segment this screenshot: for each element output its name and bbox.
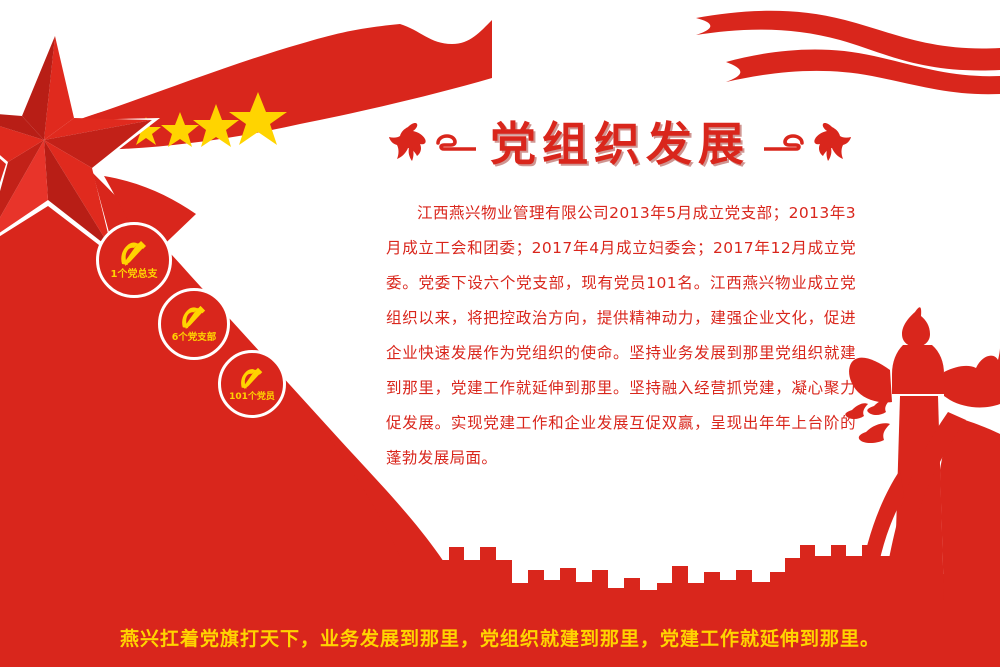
badge-party-members[interactable]: 101个党员	[218, 350, 286, 418]
poster-canvas: 党组织发展 江西燕兴物业管理有限公司2013年5月成立党支部；2013年3月成立…	[0, 0, 1000, 667]
badge-label: 1个党总支	[111, 270, 158, 280]
page-title: 党组织发展	[490, 121, 750, 167]
badge-party-branches[interactable]: 6个党支部	[158, 288, 230, 360]
body-paragraph: 江西燕兴物业管理有限公司2013年5月成立党支部；2013年3月成立工会和团委；…	[386, 196, 856, 476]
hammer-sickle-icon	[178, 305, 210, 331]
dove-icon	[389, 123, 426, 161]
right-title-ornament	[764, 121, 854, 167]
hammer-sickle-icon	[237, 367, 267, 391]
footer-banner: 燕兴扛着党旗打天下，业务发展到那里，党组织就建到那里，党建工作就延伸到那里。	[0, 607, 1000, 667]
footer-slogan: 燕兴扛着党旗打天下，业务发展到那里，党组织就建到那里，党建工作就延伸到那里。	[120, 624, 880, 651]
bayi-uprising-monument-icon	[842, 307, 1000, 600]
badge-party-general-branch[interactable]: 1个党总支	[96, 222, 172, 298]
cloud-scroll-icon	[438, 136, 476, 149]
left-title-ornament	[386, 121, 476, 167]
hammer-sickle-icon	[117, 240, 151, 268]
badge-label: 101个党员	[229, 393, 275, 402]
badge-label: 6个党支部	[172, 333, 217, 343]
dove-icon	[814, 123, 851, 161]
cloud-scroll-icon	[764, 136, 802, 149]
title-block: 党组织发展	[300, 108, 940, 180]
